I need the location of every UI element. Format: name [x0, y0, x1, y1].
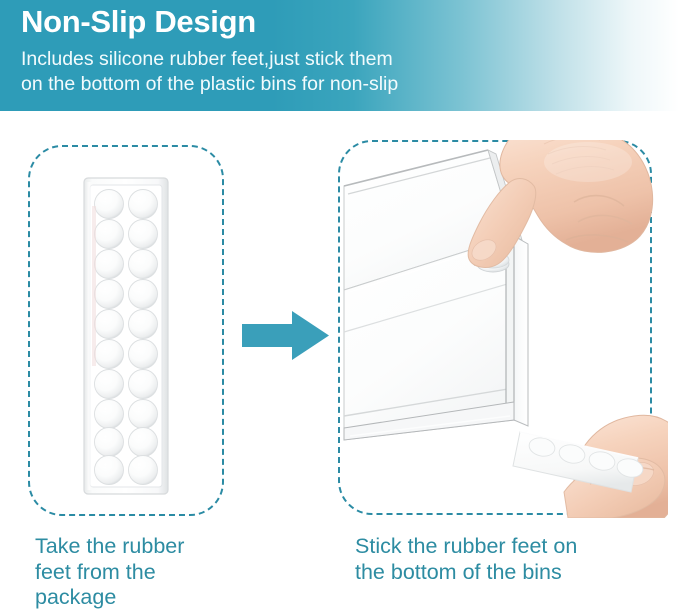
flow-arrow: [242, 310, 330, 362]
blister-pack-image: [82, 176, 170, 496]
blister-pack-svg: [82, 176, 170, 496]
left-caption-line-1: Take the rubber: [35, 534, 255, 560]
right-caption-line-1: Stick the rubber feet on: [355, 534, 655, 560]
banner-subtitle-line-1: Includes silicone rubber feet,just stick…: [21, 47, 398, 72]
bin-and-hands-image: [338, 140, 668, 518]
left-caption-line-2: feet from the: [35, 560, 255, 586]
banner-subtitle: Includes silicone rubber feet,just stick…: [21, 47, 398, 97]
page-title: Non-Slip Design: [21, 4, 256, 40]
banner-subtitle-line-2: on the bottom of the plastic bins for no…: [21, 72, 398, 97]
flow-arrow-icon: [242, 310, 330, 362]
bin-and-hands-svg: [338, 140, 668, 518]
right-panel-caption: Stick the rubber feet on the bottom of t…: [355, 534, 655, 585]
header-banner: Non-Slip Design Includes silicone rubber…: [0, 0, 679, 111]
left-caption-line-3: package: [35, 585, 255, 611]
left-panel-caption: Take the rubber feet from the package: [35, 534, 255, 611]
right-caption-line-2: the bottom of the bins: [355, 560, 655, 586]
